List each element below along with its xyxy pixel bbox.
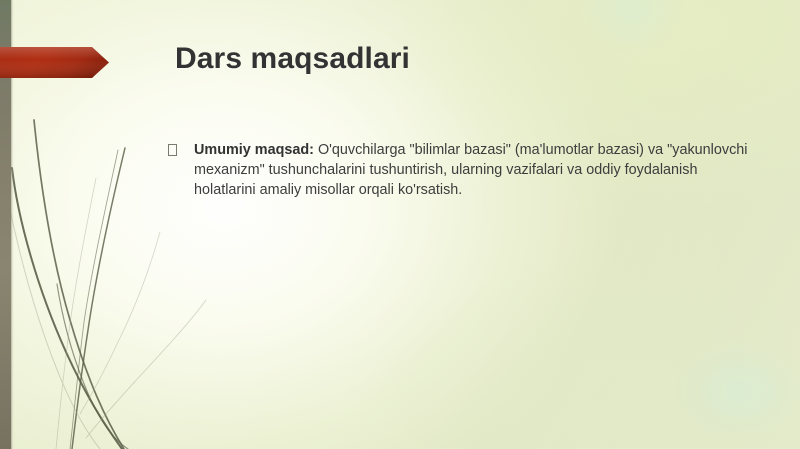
- list-item: Umumiy maqsad: O'quvchilarga "bilimlar b…: [194, 140, 748, 200]
- red-arrow-banner-icon: [0, 46, 110, 79]
- page-title: Dars maqsadlari: [175, 42, 410, 76]
- bullet-lead-label: Umumiy maqsad:: [194, 142, 314, 158]
- bullet-list: Umumiy maqsad: O'quvchilarga "bilimlar b…: [168, 140, 748, 200]
- slide-canvas: Dars maqsadlari Umumiy maqsad: O'quvchil…: [0, 0, 800, 449]
- bullet-box-icon: [168, 144, 177, 156]
